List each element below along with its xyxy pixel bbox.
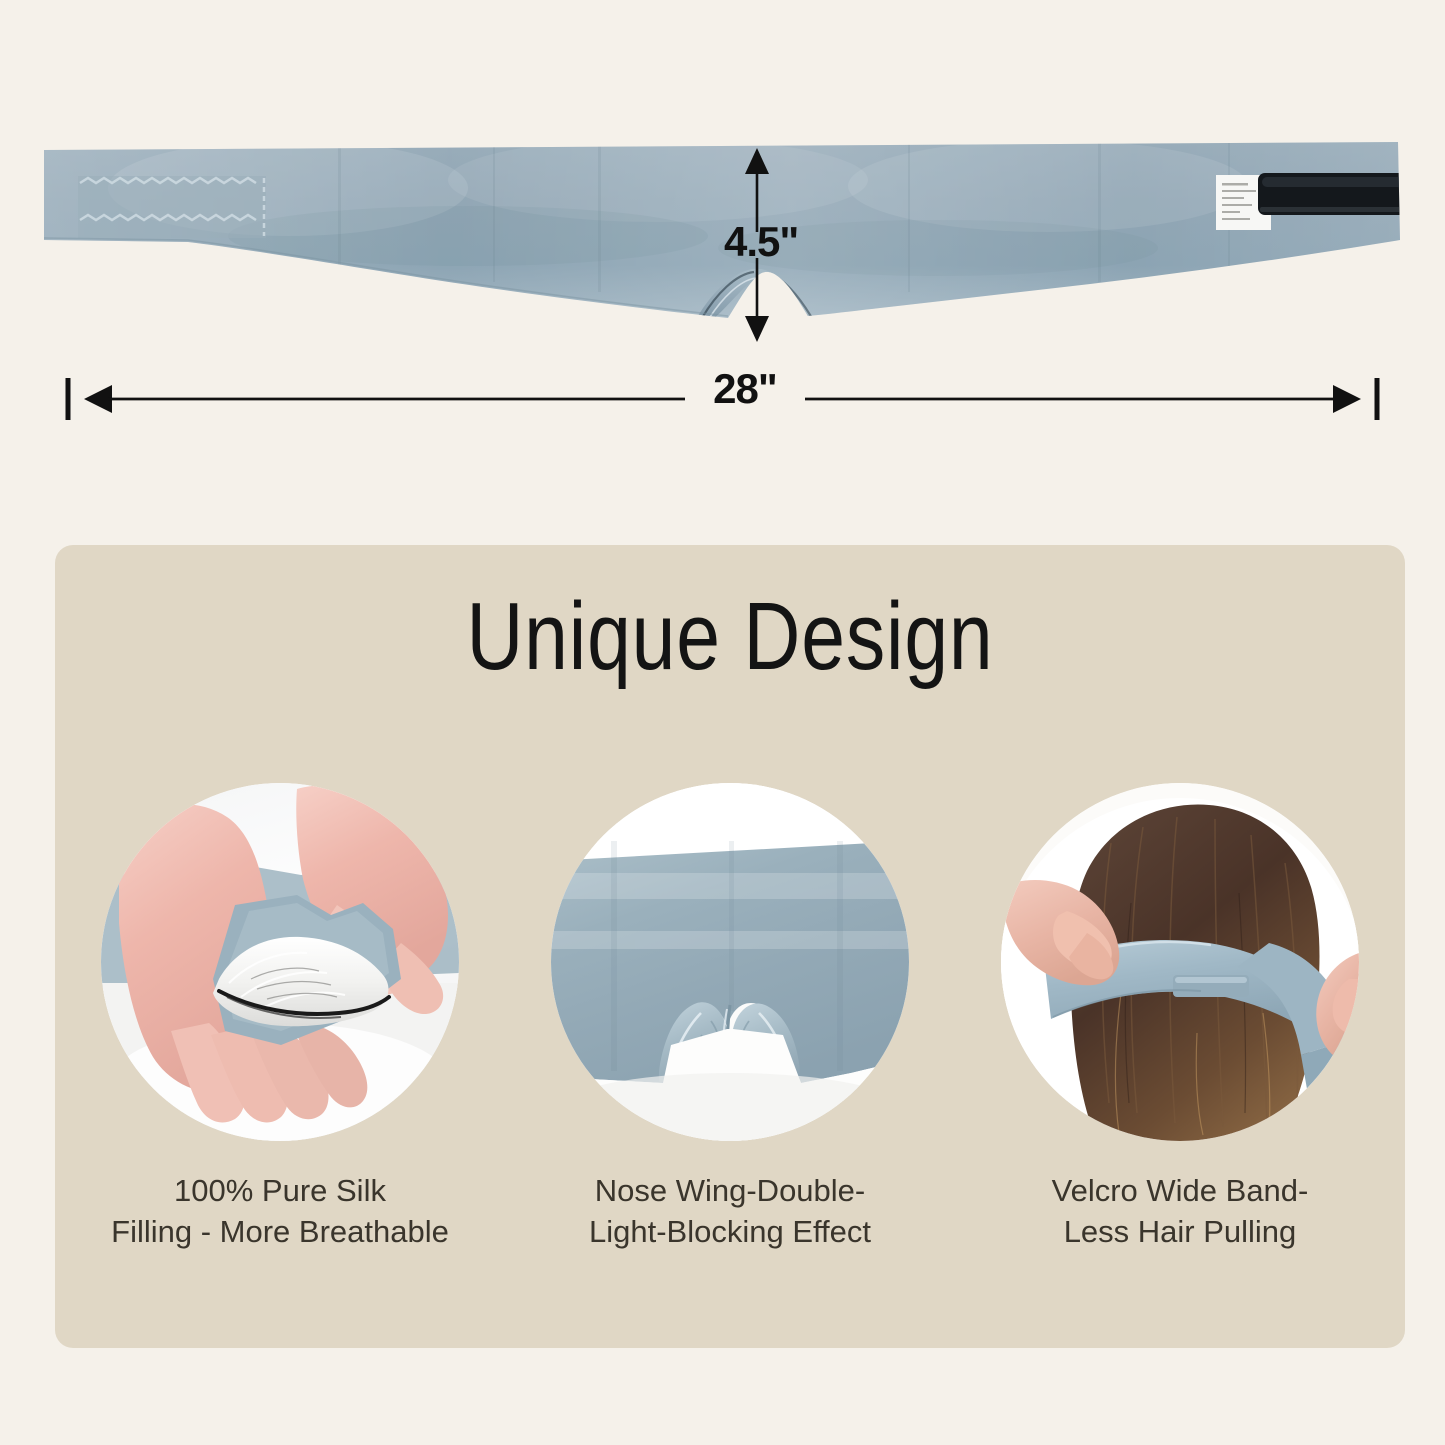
feature-list: 100% Pure Silk Filling - More Breathable [55,783,1405,1253]
velcro-strip-shape [1258,173,1408,215]
woman-fastening-velcro-band-photo [1001,783,1359,1141]
nose-wing-closeup-photo [551,783,909,1141]
feature-caption: Nose Wing-Double- Light-Blocking Effect [589,1171,871,1253]
feature-item: Velcro Wide Band- Less Hair Pulling [970,783,1390,1253]
height-dimension-label: 4.5" [724,218,798,266]
hands-holding-silk-filling-photo [101,783,459,1141]
width-dimension-label: 28" [685,365,805,413]
feature-item: 100% Pure Silk Filling - More Breathable [70,783,490,1253]
feature-caption: 100% Pure Silk Filling - More Breathable [111,1171,449,1253]
width-dimension: 28" [50,360,1395,435]
height-dimension: 4.5" [700,140,860,350]
feature-item: Nose Wing-Double- Light-Blocking Effect [520,783,940,1253]
panel-title: Unique Design [177,587,1284,688]
hero-section: 4.5" 28" [0,0,1445,530]
product-infographic: 4.5" 28" Unique Design [0,0,1445,1445]
feature-caption: Velcro Wide Band- Less Hair Pulling [1052,1171,1309,1253]
unique-design-panel: Unique Design [55,545,1405,1348]
